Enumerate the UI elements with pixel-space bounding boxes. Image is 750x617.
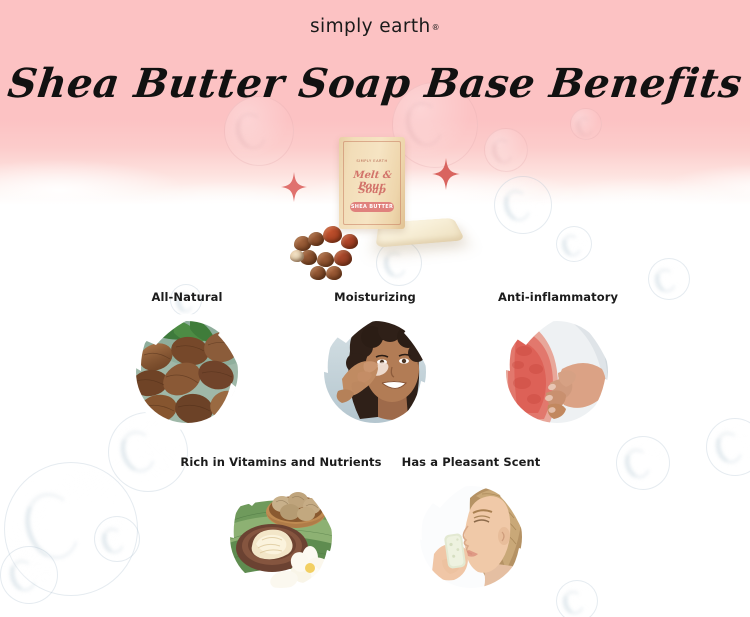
- benefit-has-a-pleasant-scent: Has a Pleasant Scent: [412, 455, 530, 596]
- sparkle-icon: [281, 172, 307, 202]
- bubble-decoration: [706, 418, 750, 476]
- bubble-decoration: [556, 580, 598, 617]
- soap-package: SIMPLY EARTH Melt & Pour Soap SHEA BUTTE…: [339, 137, 405, 229]
- benefit-photo-wrap: [498, 313, 616, 431]
- shea-nut: [308, 232, 324, 246]
- shea-nut: [323, 226, 342, 243]
- photo-shea-nuts-on-leaves: [132, 317, 242, 427]
- benefit-photo-wrap: [222, 478, 340, 596]
- package-variant-badge: SHEA BUTTER: [350, 202, 394, 212]
- shea-nut: [317, 252, 334, 267]
- benefit-photo-wrap: [128, 313, 246, 431]
- package-brand-text: SIMPLY EARTH: [339, 159, 405, 163]
- shea-nut: [310, 266, 326, 280]
- benefit-label: Has a Pleasant Scent: [370, 455, 572, 469]
- photo-woman-smelling-soap-bar: [416, 482, 526, 592]
- bubble-decoration: [0, 546, 58, 604]
- shea-nut: [326, 266, 342, 280]
- benefit-label: Rich in Vitamins and Nutrients: [160, 455, 402, 469]
- benefit-label: Moisturizing: [316, 290, 434, 304]
- photo-woman-applying-cream: [320, 317, 430, 427]
- benefit-photo-wrap: [316, 313, 434, 431]
- bubble-decoration: [616, 436, 670, 490]
- benefit-label: Anti-inflammatory: [498, 290, 616, 304]
- benefit-all-natural: All-Natural: [128, 290, 246, 431]
- infographic-poster: simply earth® Shea Butter Soap Base Bene…: [0, 0, 750, 617]
- benefit-moisturizing: Moisturizing: [316, 290, 434, 431]
- benefit-anti-inflammatory: Anti-inflammatory: [498, 290, 616, 431]
- shea-nut: [290, 250, 304, 262]
- sparkle-icon: [432, 158, 460, 190]
- benefit-rich-in-vitamins-and-nutrients: Rich in Vitamins and Nutrients: [222, 455, 340, 596]
- bubble-decoration: [4, 462, 138, 596]
- product-hero: SIMPLY EARTH Melt & Pour Soap SHEA BUTTE…: [0, 0, 750, 300]
- shea-nut: [334, 250, 352, 266]
- shea-nut: [341, 234, 358, 249]
- package-title-line2: Soap: [338, 185, 405, 196]
- bubble-decoration: [94, 516, 140, 562]
- benefit-label: All-Natural: [128, 290, 246, 304]
- photo-shea-butter-in-bowl-with-flower: [226, 482, 336, 592]
- photo-irritated-red-skin-on-arm: [502, 317, 612, 427]
- benefit-photo-wrap: [412, 478, 530, 596]
